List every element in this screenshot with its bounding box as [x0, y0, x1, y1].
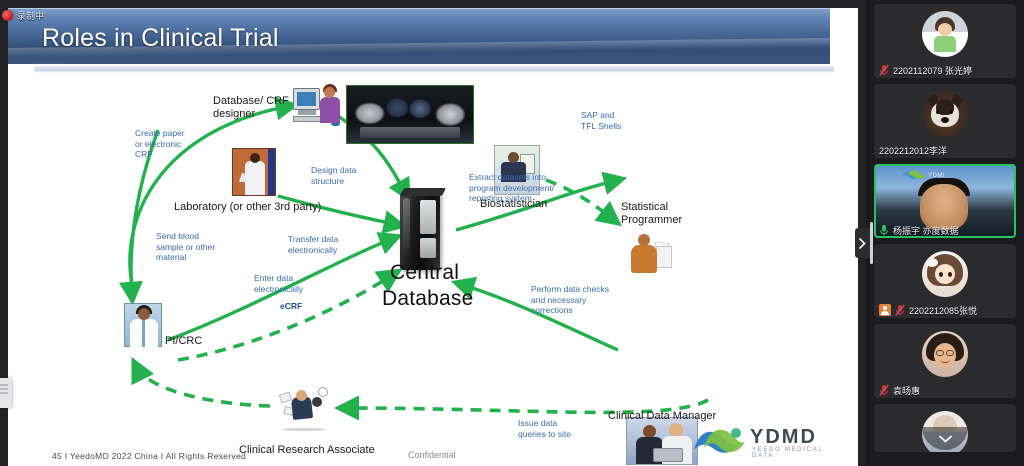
rail-divider	[870, 222, 873, 264]
mic-muted-icon	[879, 384, 889, 396]
statistical-programmer-icon	[622, 232, 672, 278]
slide-footer-left: 45 I YeedoMD 2022 China I All Rights Res…	[52, 451, 246, 461]
host-icon	[879, 304, 891, 316]
annotation-send-blood: Send blood sample or other material	[156, 231, 215, 263]
annotation-design-structure: Design data structure	[311, 165, 356, 186]
chevron-right-icon	[859, 238, 866, 249]
central-database-label-line2: Database	[382, 286, 474, 312]
central-database-label-line1: Central	[390, 260, 459, 286]
participant-tile-active-speaker[interactable]: YDMD 杨振宇 亦度数据	[874, 164, 1016, 238]
annotation-enter-data: Enter data electronically	[254, 273, 303, 294]
participant-name-bar: 2202212085张悦	[874, 302, 982, 318]
clinical-trial-roles-diagram: Database/ CRF designer Biostatistician L…	[8, 70, 858, 466]
record-dot-icon	[2, 10, 13, 21]
participant-tile[interactable]: 2202212085张悦	[874, 244, 1016, 318]
annotation-perform-checks: Perform data checks and necessary correc…	[531, 284, 609, 316]
mic-muted-icon	[879, 64, 889, 76]
chevron-down-icon	[939, 435, 952, 443]
annotation-sap-tfl: SAP and TFL Shells	[581, 110, 621, 131]
mic-unmuted-icon	[879, 224, 889, 236]
annotation-extract-datasets: Extract datasets into program developmen…	[469, 172, 554, 204]
participant-tile[interactable]: 袁旸惠	[874, 324, 1016, 398]
ydmd-logo-tagline: YEEDO MEDICAL DATA	[752, 447, 840, 459]
recording-label: 录制中	[17, 9, 44, 22]
avatar	[922, 11, 968, 57]
ydmd-logo-text: YDMD	[750, 426, 817, 449]
participant-tile-partial[interactable]	[874, 404, 1016, 452]
ydmd-logo: YDMD YEEDO MEDICAL DATA	[692, 420, 840, 460]
meeting-photo	[346, 85, 474, 144]
drag-handle-lines-icon	[0, 384, 8, 398]
participant-name: 2202212012李洋	[879, 144, 947, 157]
annotation-ecrf: eCRF	[280, 301, 302, 311]
page-title: Roles in Clinical Trial	[42, 24, 279, 53]
shared-screen-stage[interactable]: Roles in Clinical Trial	[0, 0, 866, 466]
avatar	[922, 251, 968, 297]
pi-crc-icon	[124, 303, 162, 347]
participant-name: 袁旸惠	[893, 384, 920, 397]
node-label-cra: Clinical Research Associate	[239, 444, 375, 457]
collapse-participants-button[interactable]	[855, 228, 870, 258]
participant-name: 2202112079 张光婷	[893, 64, 972, 77]
clinical-research-associate-icon	[276, 387, 334, 431]
slide-footer-confidential: Confidential	[408, 450, 456, 460]
participant-tile[interactable]: 2202212012李洋	[874, 84, 1016, 158]
node-label-db-designer: Database/ CRF designer	[213, 95, 289, 121]
participant-name-bar: 杨振宇 亦度数据	[874, 222, 964, 238]
participant-name: 2202212085张悦	[909, 304, 977, 317]
mic-muted-icon	[895, 304, 905, 316]
node-label-stat-programmer: Statistical Programmer	[621, 201, 682, 227]
participant-rail[interactable]: 2202112079 张光婷 2202212012李洋 YDMD	[866, 0, 1024, 466]
laboratory-icon	[232, 148, 276, 196]
annotation-issue-queries: Issue data queries to site	[518, 418, 571, 439]
participant-name: 杨振宇 亦度数据	[893, 224, 959, 237]
participant-name-bar: 2202212012李洋	[874, 142, 952, 158]
participant-name-bar: 2202112079 张光婷	[874, 62, 977, 78]
clinical-data-manager-icon	[626, 417, 698, 465]
database-crf-designer-icon	[293, 84, 341, 129]
avatar	[922, 91, 968, 137]
presentation-slide: Roles in Clinical Trial	[8, 8, 858, 466]
ydmd-logo-mark	[692, 424, 746, 456]
annotation-transfer-data: Transfer data electronically	[288, 234, 338, 255]
annotation-create-crf: Create paper or electronic CRF	[135, 128, 185, 160]
recording-indicator[interactable]: 录制中	[2, 9, 44, 22]
participant-name-bar: 袁旸惠	[874, 382, 925, 398]
node-label-laboratory: Laboratory (or other 3rd party)	[174, 201, 321, 214]
avatar	[922, 331, 968, 377]
meeting-window: Roles in Clinical Trial	[0, 0, 1024, 466]
participant-tile[interactable]: 2202112079 张光婷	[874, 4, 1016, 78]
node-label-pi-crc: PI/CRC	[165, 335, 202, 348]
